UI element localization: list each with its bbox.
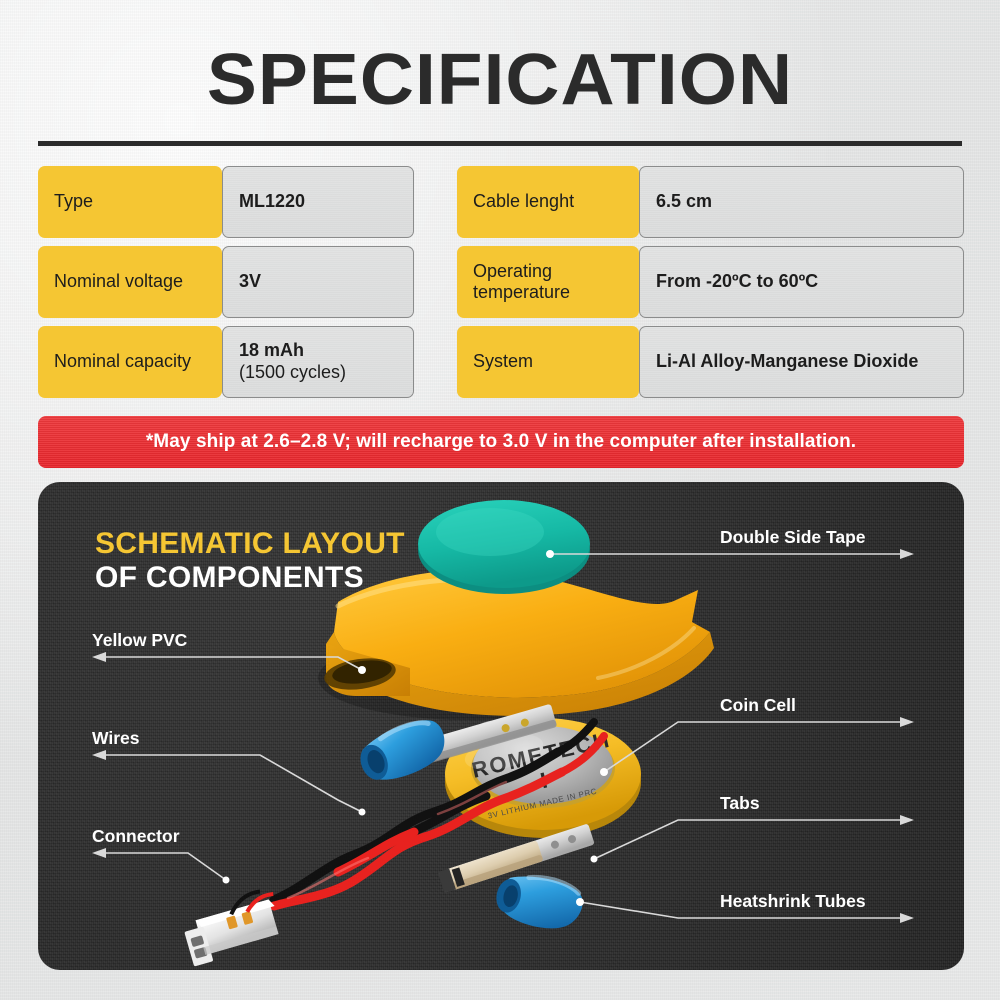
specification-table: Type ML1220 Cable lenght 6.5 cm Nominal … [38,166,964,398]
capacity-main: 18 mAh [239,340,304,360]
callout-double-side-tape: Double Side Tape [720,527,866,548]
spec-value-type: ML1220 [222,166,414,238]
spec-value-cable-length: 6.5 cm [639,166,964,238]
spec-value-nominal-voltage-text: 3V [239,271,261,293]
spec-label-operating-temperature: Operating temperature [457,246,639,318]
shipping-voltage-warning: *May ship at 2.6–2.8 V; will recharge to… [38,416,964,468]
spec-value-type-text: ML1220 [239,191,305,213]
spec-label-system: System [457,326,639,398]
spec-value-system-text: Li-Al Alloy-Manganese Dioxide [656,351,918,373]
double-side-tape [418,500,590,594]
callout-wires: Wires [92,728,140,749]
specification-infographic: SPECIFICATION Type ML1220 Cable lenght 6… [0,0,1000,1000]
spec-value-operating-temperature: From -20ºC to 60ºC [639,246,964,318]
callout-coin-cell: Coin Cell [720,695,796,716]
spec-label-nominal-voltage: Nominal voltage [38,246,222,318]
spec-value-cable-length-text: 6.5 cm [656,191,712,213]
title-divider [38,141,962,146]
grid-gap [414,246,457,318]
spec-value-system: Li-Al Alloy-Manganese Dioxide [639,326,964,398]
schematic-heading-line1: SCHEMATIC LAYOUT [95,527,405,561]
capacity-cycles: (1500 cycles) [239,362,346,382]
spec-value-nominal-voltage: 3V [222,246,414,318]
spec-value-operating-temperature-text: From -20ºC to 60ºC [656,271,818,293]
spec-label-type: Type [38,166,222,238]
spec-value-nominal-capacity-text: 18 mAh (1500 cycles) [239,340,346,383]
callout-heatshrink-tubes: Heatshrink Tubes [720,891,866,912]
warning-text: *May ship at 2.6–2.8 V; will recharge to… [146,431,856,453]
spec-value-nominal-capacity: 18 mAh (1500 cycles) [222,326,414,398]
spec-label-cable-length: Cable lenght [457,166,639,238]
callout-yellow-pvc: Yellow PVC [92,630,187,651]
spec-label-nominal-capacity: Nominal capacity [38,326,222,398]
schematic-panel: SCHEMATIC LAYOUT OF COMPONENTS [38,482,964,970]
heatshrink-tube-upper [353,713,452,789]
schematic-heading: SCHEMATIC LAYOUT OF COMPONENTS [95,527,405,594]
schematic-heading-line2: OF COMPONENTS [95,561,405,595]
grid-gap [414,166,457,238]
callout-tabs: Tabs [720,793,760,814]
callout-connector: Connector [92,826,180,847]
grid-gap [414,326,457,398]
heatshrink-tube-lower [492,869,587,935]
page-title: SPECIFICATION [0,44,1000,116]
